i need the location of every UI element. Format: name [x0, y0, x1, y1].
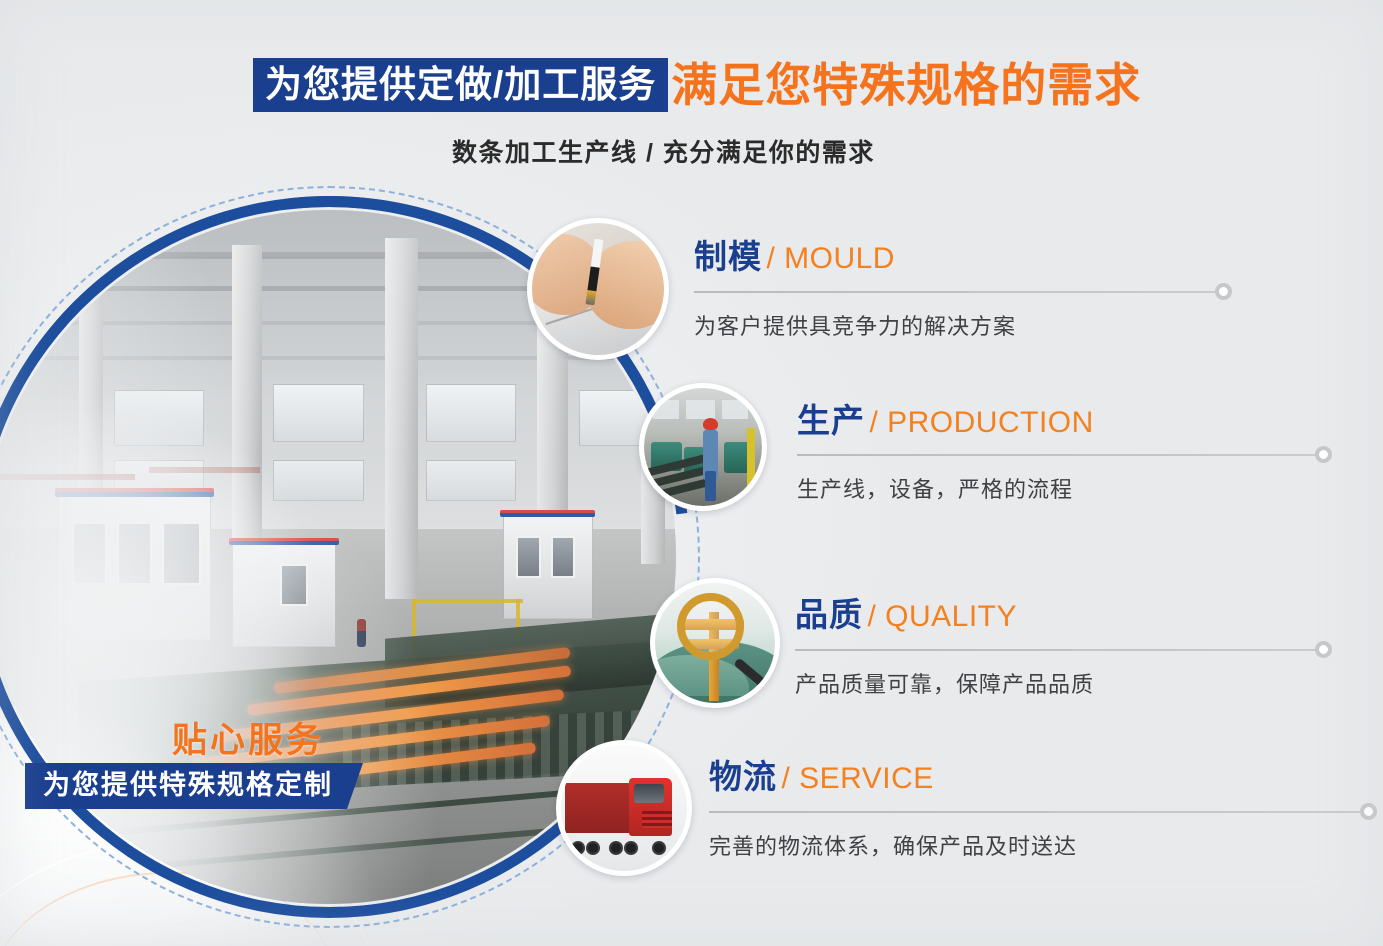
feature-divider-dot: [1215, 283, 1232, 300]
feature-divider: [797, 454, 1318, 456]
feature-desc: 生产线，设备，严格的流程: [797, 472, 1073, 504]
magnifying-glass-icon: [650, 578, 780, 708]
feature-title-en: / PRODUCTION: [869, 406, 1093, 439]
feature-divider: [795, 649, 1318, 651]
feature-divider-dot: [1315, 641, 1332, 658]
feature-desc: 完善的物流体系，确保产品及时送达: [709, 829, 1077, 861]
feature-title-en: / MOULD: [766, 242, 895, 275]
feature-title-en: / SERVICE: [781, 762, 933, 795]
delivery-truck-icon: [556, 740, 692, 876]
headline-accent: 满足您特殊规格的需求: [671, 62, 1141, 108]
feature-desc: 产品质量可靠，保障产品品质: [795, 667, 1094, 699]
feature-divider-dot: [1315, 446, 1332, 463]
care-service-title: 贴心服务: [172, 712, 324, 763]
factory-worker-icon: [639, 383, 767, 511]
feature-title-cn: 生产: [797, 402, 865, 439]
feature-title-cn: 物流: [709, 758, 777, 795]
feature-divider-dot: [1360, 803, 1377, 820]
feature-title-cn: 制模: [694, 238, 762, 275]
headline-badge: 为您提供定做/加工服务: [253, 58, 668, 112]
headline: 为您提供定做/加工服务 满足您特殊规格的需求: [253, 58, 1141, 112]
subheadline: 数条加工生产线 / 充分满足你的需求: [452, 133, 875, 169]
feature-title-en: / QUALITY: [867, 600, 1017, 633]
promo-banner: 为您提供定做/加工服务 满足您特殊规格的需求 数条加工生产线 / 充分满足你的需…: [0, 0, 1383, 946]
care-service-banner: 为您提供特殊规格定制: [25, 763, 363, 809]
feature-desc: 为客户提供具竞争力的解决方案: [694, 309, 1016, 341]
feature-title-cn: 品质: [795, 596, 863, 633]
hand-drafting-pen-icon: [527, 218, 669, 360]
feature-divider: [694, 291, 1218, 293]
feature-divider: [709, 811, 1364, 813]
